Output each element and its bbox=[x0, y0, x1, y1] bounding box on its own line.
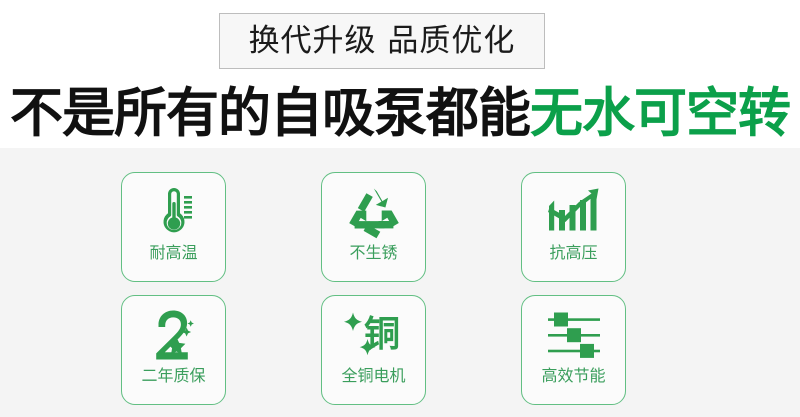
headline: 不是所有的自吸泵都能无水可空转 bbox=[0, 85, 800, 141]
features-section: 耐高温 bbox=[0, 148, 800, 417]
feature-card-label: 二年质保 bbox=[141, 367, 205, 385]
headline-dark-text: 不是所有的自吸泵都能 bbox=[10, 87, 530, 140]
feature-card-label: 不生锈 bbox=[349, 244, 397, 262]
feature-card-label: 抗高压 bbox=[549, 244, 597, 262]
copper-sparkle-icon: 铜 bbox=[343, 305, 405, 365]
growth-chart-icon bbox=[543, 182, 605, 242]
feature-card-warranty[interactable]: 二年质保 bbox=[121, 295, 226, 405]
recycle-icon bbox=[343, 182, 405, 242]
promo-banner-page: 换代升级 品质优化 不是所有的自吸泵都能无水可空转 bbox=[0, 0, 800, 417]
sliders-icon bbox=[543, 305, 605, 365]
feature-card-rust-free[interactable]: 不生锈 bbox=[321, 172, 426, 282]
two-year-star-icon bbox=[143, 305, 205, 365]
headline-accent-text: 无水可空转 bbox=[530, 87, 790, 140]
feature-card-pressure-resistant[interactable]: 抗高压 bbox=[521, 172, 626, 282]
feature-card-energy-saving[interactable]: 高效节能 bbox=[521, 295, 626, 405]
feature-card-label: 高效节能 bbox=[541, 367, 605, 385]
feature-card-label: 耐高温 bbox=[149, 244, 197, 262]
feature-card-heat-resistant[interactable]: 耐高温 bbox=[121, 172, 226, 282]
thermometer-icon bbox=[143, 182, 205, 242]
subtitle-text: 换代升级 品质优化 bbox=[249, 26, 516, 57]
feature-grid: 耐高温 bbox=[121, 172, 681, 405]
header-area: 换代升级 品质优化 不是所有的自吸泵都能无水可空转 bbox=[0, 0, 800, 148]
feature-card-label: 全铜电机 bbox=[341, 367, 405, 385]
subtitle-box: 换代升级 品质优化 bbox=[219, 13, 545, 69]
feature-card-copper-motor[interactable]: 铜 全铜电机 bbox=[321, 295, 426, 405]
